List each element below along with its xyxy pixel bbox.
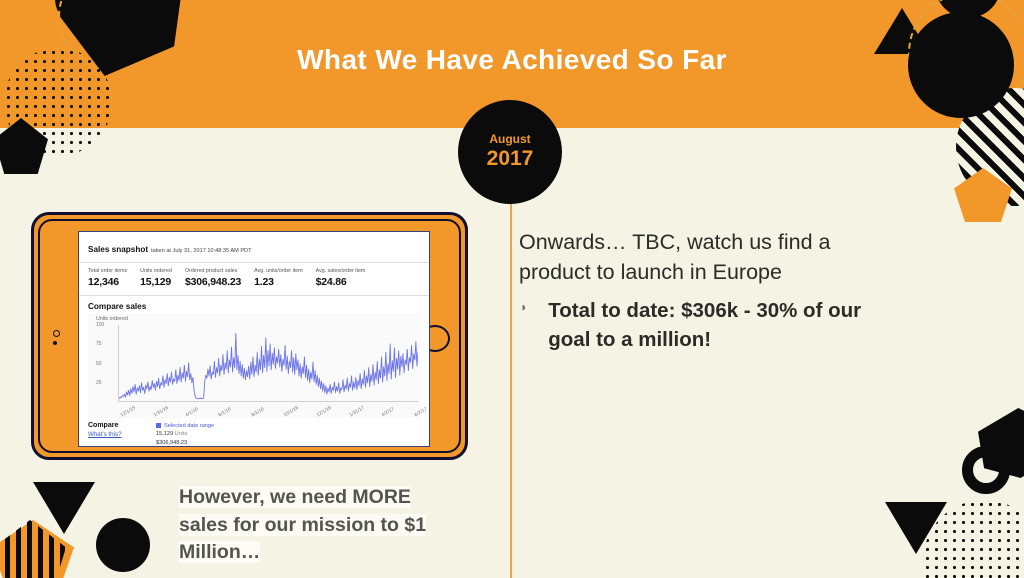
legend-units-row: 15,129 Units bbox=[156, 430, 214, 438]
kpi-row: Total order items 12,346 Units ordered 1… bbox=[79, 263, 429, 296]
whats-this-link[interactable]: What's this? bbox=[88, 431, 156, 438]
kpi-label: Avg. units/order item bbox=[254, 268, 302, 274]
bottom-caption: However, we need MORE sales for our miss… bbox=[179, 484, 489, 567]
kpi-value: 12,346 bbox=[88, 276, 127, 288]
caption-line-2: sales for our mission to $1 bbox=[179, 514, 426, 536]
chart-y-tick: 25 bbox=[96, 380, 102, 386]
kpi-label: Total order items bbox=[88, 268, 127, 274]
chart-x-tick: 6/2/17 bbox=[414, 407, 428, 418]
kpi-total-order-items: Total order items 12,346 bbox=[88, 268, 127, 288]
dashboard-screen: Sales snapshottaken at July 31, 2017 10:… bbox=[78, 231, 430, 447]
compare-label: Compare bbox=[88, 422, 156, 429]
kpi-label: Units ordered bbox=[140, 268, 172, 274]
kpi-avg-sales-per-order-item: Avg. sales/order item $24.86 bbox=[316, 268, 366, 288]
chart-legend: Selected date range 15,129 Units $306,94… bbox=[156, 422, 214, 447]
kpi-value: $306,948.23 bbox=[185, 276, 241, 288]
chart-y-tick: 100 bbox=[96, 322, 104, 328]
chart-y-tick: 50 bbox=[96, 361, 102, 367]
chart-plot-area bbox=[118, 325, 418, 402]
snapshot-subtitle: taken at July 31, 2017 10:48:35 AM PDT bbox=[151, 248, 251, 254]
bullet-item: ◑ Total to date: $306k - 30% of our goal… bbox=[519, 296, 864, 354]
kpi-avg-units-per-order-item: Avg. units/order item 1.23 bbox=[254, 268, 302, 288]
vertical-divider bbox=[510, 204, 512, 578]
bullet-text: Total to date: $306k - 30% of our goal t… bbox=[548, 296, 864, 354]
kpi-units-ordered: Units ordered 15,129 bbox=[140, 268, 172, 288]
legend-units-value: 15,129 bbox=[156, 431, 173, 437]
legend-units-suffix: Units bbox=[175, 431, 188, 437]
chart-x-tick: 10/1/16 bbox=[283, 406, 300, 418]
tablet-sensor-icon bbox=[53, 341, 57, 345]
onwards-paragraph: Onwards… TBC, watch us find a product to… bbox=[519, 228, 879, 287]
slide-canvas: What We Have Achieved So Far August 2017… bbox=[0, 0, 1024, 578]
caption-line-3: Million… bbox=[179, 541, 260, 563]
badge-year: 2017 bbox=[487, 147, 534, 171]
legend-sales-value: $306,948.23 bbox=[156, 439, 214, 447]
compare-controls: Compare What's this? bbox=[88, 422, 156, 447]
compare-sales-title: Compare sales bbox=[79, 296, 429, 314]
legend-entry[interactable]: Selected date range bbox=[156, 422, 214, 430]
snapshot-title: Sales snapshot bbox=[88, 245, 148, 254]
chart-x-tick: 1/31/17 bbox=[349, 406, 366, 418]
legend-label: Selected date range bbox=[164, 423, 214, 429]
legend-checkbox-icon[interactable] bbox=[156, 423, 161, 428]
chart-x-tick: 4/1/16 bbox=[185, 407, 199, 418]
chart-footer: Compare What's this? Selected date range… bbox=[79, 418, 429, 447]
compare-sales-chart: Units ordered 100755025 12/1/151/31/164/… bbox=[88, 314, 420, 418]
chart-x-tick: 12/1/16 bbox=[316, 406, 333, 418]
kpi-value: 1.23 bbox=[254, 276, 302, 288]
kpi-value: $24.86 bbox=[316, 276, 366, 288]
chart-line-svg bbox=[119, 325, 418, 401]
tablet-camera-icon bbox=[53, 330, 60, 337]
date-badge: August 2017 bbox=[458, 100, 562, 204]
snapshot-header: Sales snapshottaken at July 31, 2017 10:… bbox=[79, 232, 429, 263]
chart-x-tick: 4/2/17 bbox=[381, 407, 395, 418]
chart-x-tick: 8/1/16 bbox=[251, 407, 265, 418]
kpi-label: Avg. sales/order item bbox=[316, 268, 366, 274]
kpi-ordered-product-sales: Ordered product sales $306,948.23 bbox=[185, 268, 241, 288]
page-title: What We Have Achieved So Far bbox=[0, 44, 1024, 76]
badge-month: August bbox=[489, 133, 530, 146]
chart-x-tick: 12/1/15 bbox=[120, 406, 137, 418]
chart-x-tick: 1/31/16 bbox=[153, 406, 170, 418]
chart-y-tick: 75 bbox=[96, 341, 102, 347]
kpi-value: 15,129 bbox=[140, 276, 172, 288]
caption-line-1: However, we need MORE bbox=[179, 486, 411, 508]
bullet-marker-icon: ◑ bbox=[519, 296, 526, 354]
chart-x-tick: 6/1/16 bbox=[218, 407, 232, 418]
kpi-label: Ordered product sales bbox=[185, 268, 241, 274]
tablet-device: Sales snapshottaken at July 31, 2017 10:… bbox=[31, 212, 468, 460]
